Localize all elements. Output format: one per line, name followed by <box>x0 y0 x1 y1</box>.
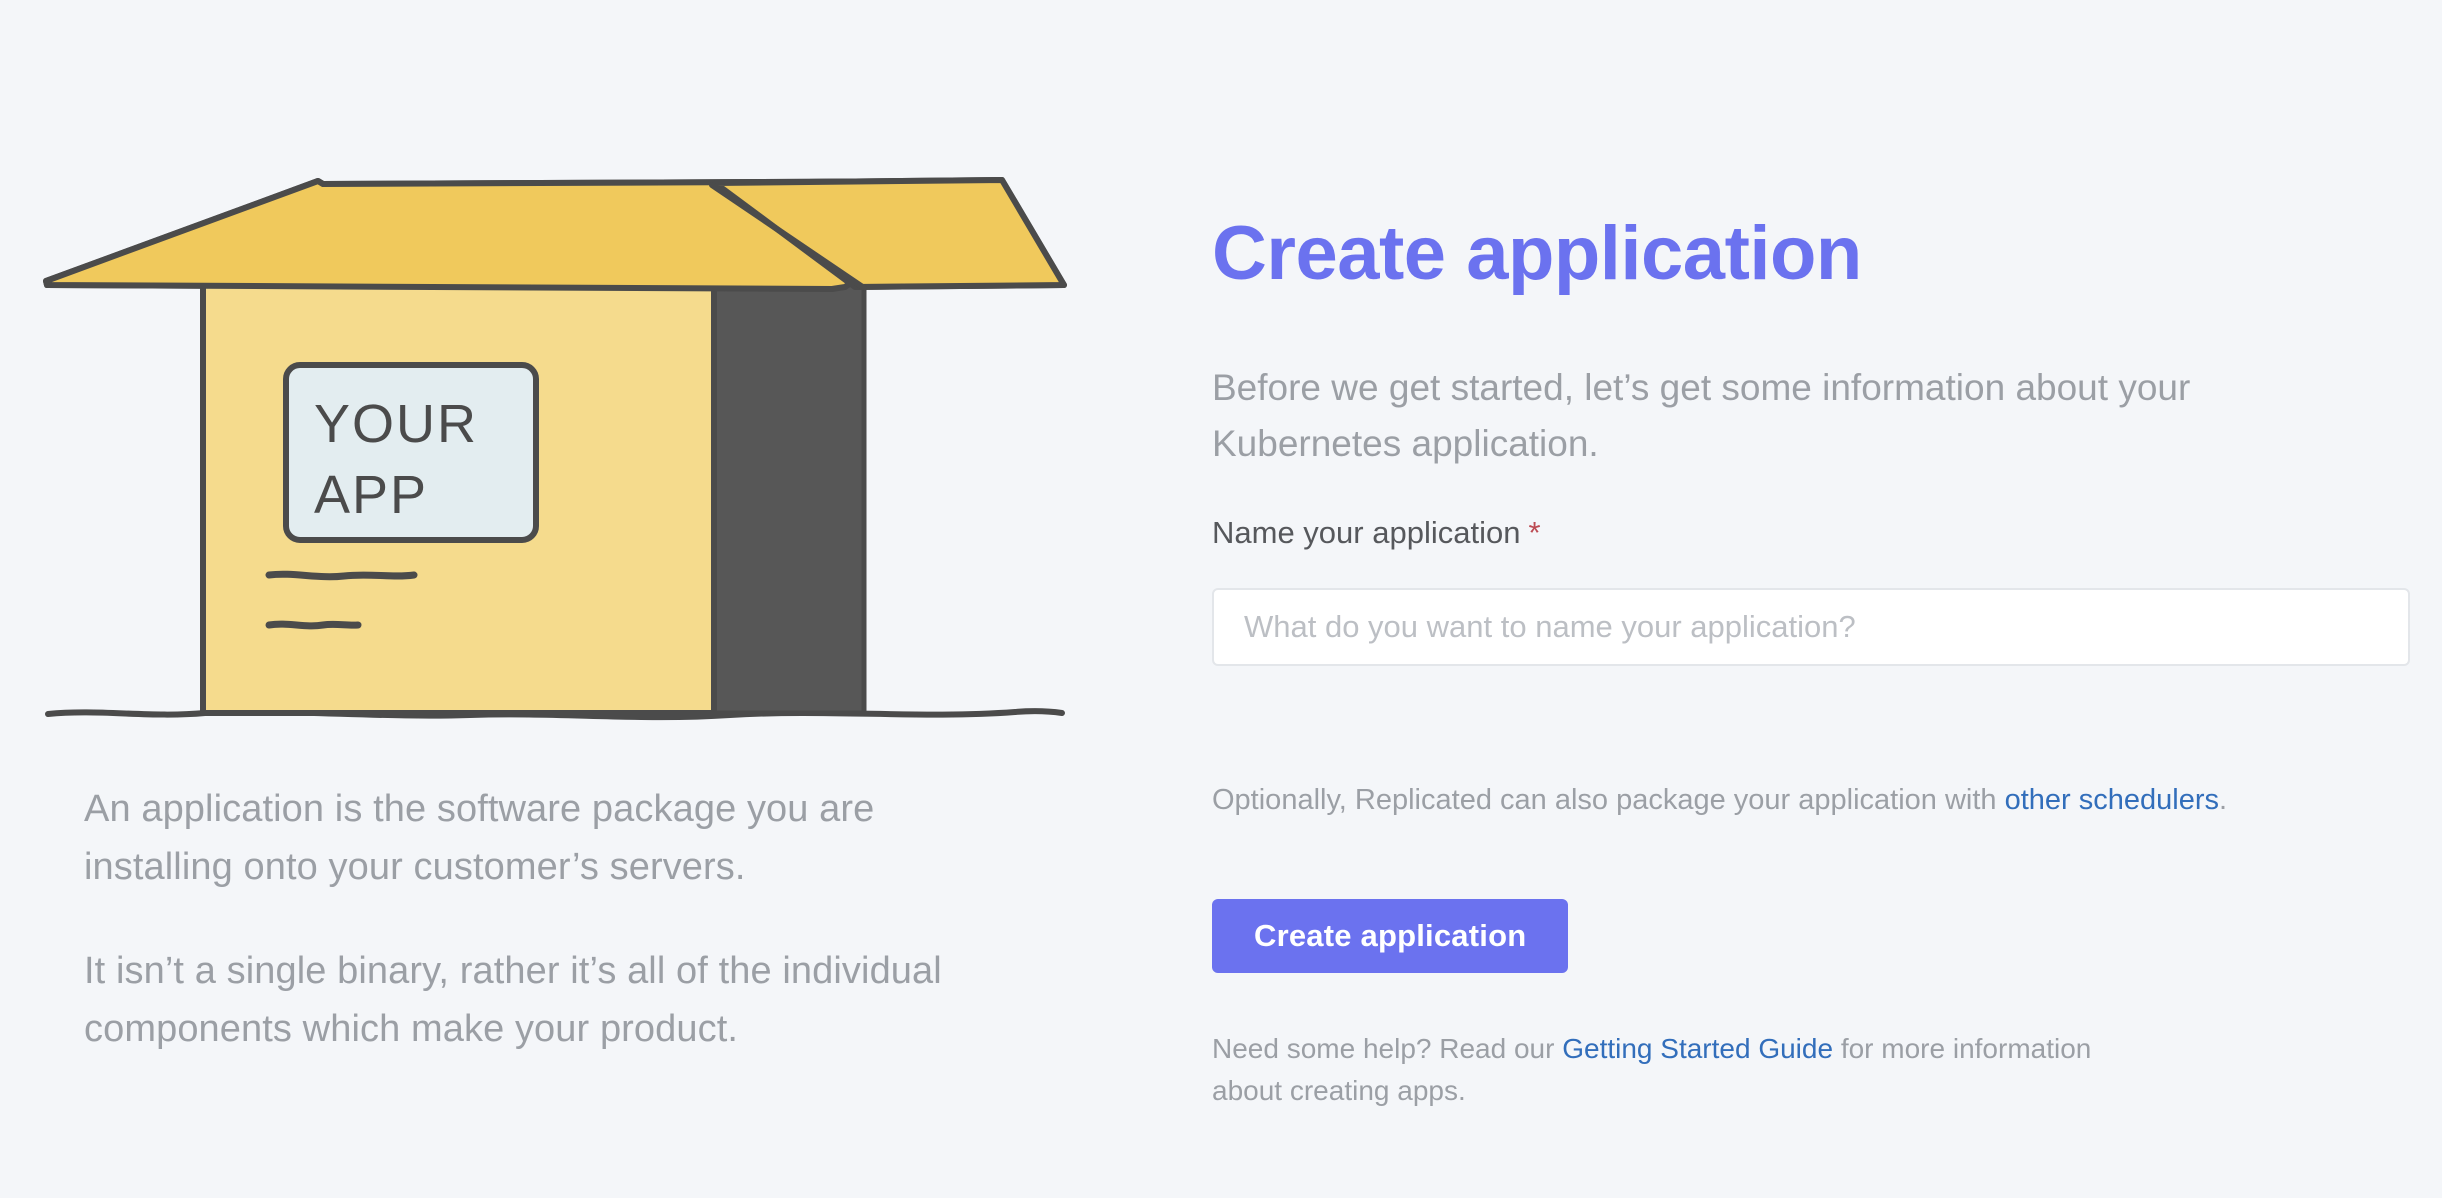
page-title: Create application <box>1212 212 1862 296</box>
getting-started-guide-link[interactable]: Getting Started Guide <box>1562 1033 1833 1064</box>
open-cardboard-box-illustration: YOUR APP <box>40 175 1070 740</box>
other-schedulers-link[interactable]: other schedulers <box>2005 784 2219 816</box>
svg-text:YOUR: YOUR <box>314 394 478 454</box>
left-info-column: YOUR APP An application is the software … <box>0 0 1140 1198</box>
create-application-button[interactable]: Create application <box>1212 899 1568 973</box>
required-asterisk: * <box>1528 515 1540 550</box>
name-field-label: Name your application <box>1212 515 1520 550</box>
create-application-page: YOUR APP An application is the software … <box>0 0 2442 1198</box>
optional-note-prefix: Optionally, Replicated can also package … <box>1212 784 2005 816</box>
optional-schedulers-note: Optionally, Replicated can also package … <box>1212 780 2227 820</box>
left-paragraph-2: It isn’t a single binary, rather it’s al… <box>84 942 1024 1058</box>
intro-text: Before we get started, let’s get some in… <box>1212 360 2342 472</box>
help-note-prefix: Need some help? Read our <box>1212 1033 1562 1064</box>
optional-note-suffix: . <box>2219 784 2227 816</box>
create-application-form-column: Create application Before we get started… <box>1212 0 2412 1198</box>
name-field-label-row: Name your application* <box>1212 515 1541 551</box>
svg-text:APP: APP <box>314 465 428 525</box>
left-description-block: An application is the software package y… <box>84 780 1024 1058</box>
application-name-input[interactable] <box>1212 588 2410 666</box>
help-note: Need some help? Read our Getting Started… <box>1212 1028 2112 1112</box>
left-paragraph-1: An application is the software package y… <box>84 780 1024 896</box>
